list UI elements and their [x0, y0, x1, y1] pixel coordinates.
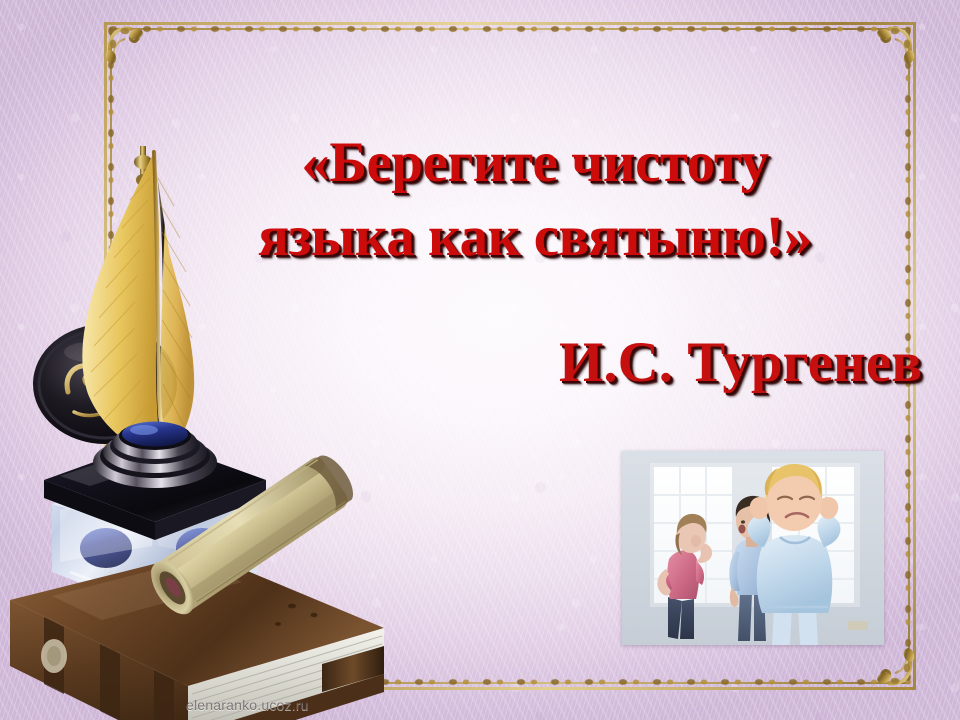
- frame-corner-flourish-top-left-icon: [92, 10, 154, 72]
- quill-inkwell-books-illustration: [0, 148, 400, 708]
- site-watermark: elenaranko.ucoz.ru: [186, 697, 309, 713]
- frame-corner-flourish-top-right-icon: [866, 10, 928, 72]
- parchment-scroll-icon: [140, 448, 380, 658]
- slide-canvas: «Берегите чистоту языка как святыню!» И.…: [0, 0, 960, 720]
- family-argument-photo: [622, 451, 884, 645]
- frame-corner-flourish-bottom-right-icon: [866, 640, 928, 702]
